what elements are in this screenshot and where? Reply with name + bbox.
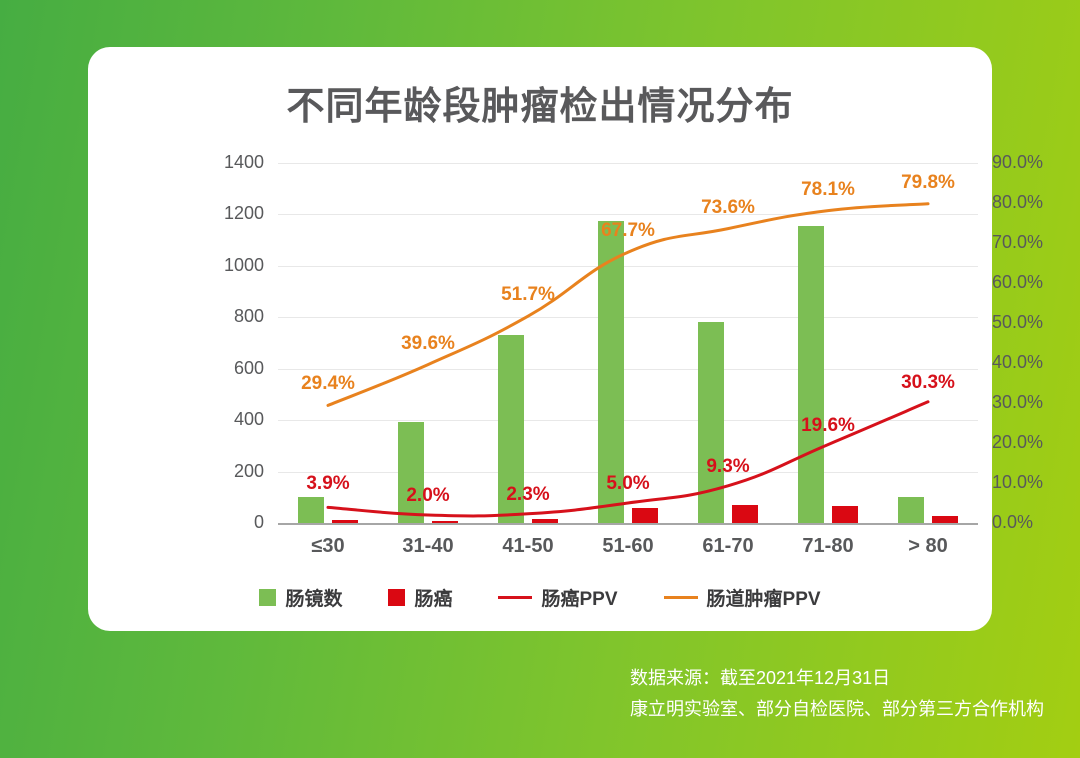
legend-line-icon [498,596,532,599]
data-label: 79.8% [901,172,955,194]
data-label: 5.0% [606,473,649,495]
data-label: 19.6% [801,415,855,437]
y-axis-right-tick: 20.0% [992,432,1043,453]
legend-box-icon [388,589,405,606]
data-label: 73.6% [701,197,755,219]
y-axis-right-tick: 90.0% [992,152,1043,173]
chart-card: 不同年龄段肿瘤检出情况分布 0200400600800100012001400 … [88,47,992,631]
y-axis-left-tick: 600 [234,358,264,379]
source-line-2: 康立明实验室、部分自检医院、部分第三方合作机构 [630,694,1044,725]
y-axis-left-tick: 800 [234,306,264,327]
y-axis-left-tick: 0 [254,512,264,533]
y-axis-right-tick: 10.0% [992,472,1043,493]
x-axis-tick-label: 51-60 [578,535,678,558]
legend-item[interactable]: 肠镜数 [259,584,342,611]
y-axis-right-tick: 0.0% [992,512,1033,533]
legend-item[interactable]: 肠癌PPV [498,584,617,611]
legend-label: 肠癌PPV [541,584,617,611]
y-axis-right-tick: 40.0% [992,352,1043,373]
x-axis-tick-label: ≤30 [278,535,378,558]
data-label: 51.7% [501,284,555,306]
plot-area: 0200400600800100012001400 0.0%10.0%20.0%… [278,163,978,523]
data-label: 2.3% [506,484,549,506]
legend-item[interactable]: 肠癌 [388,584,452,611]
data-label: 30.3% [901,372,955,394]
source-line-1: 数据来源：截至2021年12月31日 [630,663,1044,694]
legend-label: 肠镜数 [285,584,342,611]
data-label: 9.3% [706,456,749,478]
chart-legend: 肠镜数肠癌肠癌PPV肠道肿瘤PPV [88,584,992,611]
page-title: 不同年龄段肿瘤检出情况分布 [88,75,992,130]
legend-box-icon [259,589,276,606]
legend-line-icon [664,596,698,599]
y-axis-right-tick: 80.0% [992,192,1043,213]
y-axis-left-tick: 1400 [224,152,264,173]
y-axis-left-tick: 200 [234,461,264,482]
y-axis-right-tick: 60.0% [992,272,1043,293]
y-axis-right-tick: 50.0% [992,312,1043,333]
x-axis-tick-label: 71-80 [778,535,878,558]
x-axis-tick-label: 61-70 [678,535,778,558]
axis-baseline [278,523,978,525]
data-label: 2.0% [406,485,449,507]
y-axis-left-tick: 400 [234,409,264,430]
data-label: 39.6% [401,333,455,355]
legend-label: 肠道肿瘤PPV [707,584,821,611]
legend-item[interactable]: 肠道肿瘤PPV [664,584,821,611]
source-footer: 数据来源：截至2021年12月31日 康立明实验室、部分自检医院、部分第三方合作… [630,663,1044,725]
y-axis-right-tick: 30.0% [992,392,1043,413]
y-axis-left-tick: 1200 [224,203,264,224]
y-axis-right-tick: 70.0% [992,232,1043,253]
x-axis-tick-label: 41-50 [478,535,578,558]
data-label: 3.9% [306,473,349,495]
x-axis-tick-label: 31-40 [378,535,478,558]
legend-label: 肠癌 [414,584,452,611]
y-axis-left-tick: 1000 [224,255,264,276]
data-label: 29.4% [301,373,355,395]
line-series-layer [278,163,978,523]
data-label: 67.7% [601,220,655,242]
data-label: 78.1% [801,179,855,201]
x-axis-tick-label: > 80 [878,535,978,558]
